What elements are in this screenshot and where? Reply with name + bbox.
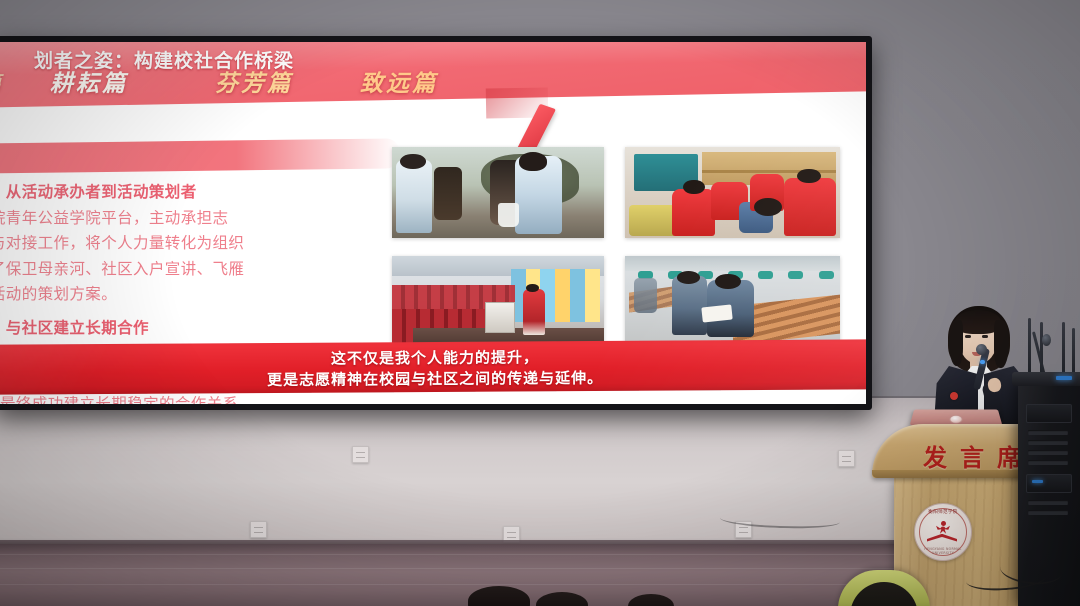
body-line: 划与对接工作，将个人力量转化为组织 bbox=[0, 231, 374, 257]
emblem-figure-icon bbox=[936, 521, 950, 534]
slide-photo-lecture-hall bbox=[392, 256, 604, 348]
lapel-badge-icon bbox=[950, 392, 958, 400]
audience-chair-seat bbox=[850, 582, 918, 606]
hair-side-right bbox=[994, 320, 1009, 368]
rack-vent-slot bbox=[1028, 510, 1068, 515]
banner-calligraphy-0: 篇 bbox=[0, 68, 4, 95]
hair-side-left bbox=[949, 320, 963, 366]
rack-vent-slot bbox=[1028, 460, 1068, 465]
body-line: 写了保卫母亲河、社区入户宣讲、飞雁 bbox=[0, 257, 374, 283]
banner-calligraphy-3: 致远篇 bbox=[360, 64, 438, 98]
rack-panel bbox=[1026, 474, 1072, 493]
laptop-logo-icon bbox=[949, 415, 963, 423]
body-heading-1: 变：从活动承办者到活动策划者 bbox=[0, 180, 374, 206]
slide-photo-outdoor-cleanup bbox=[392, 147, 604, 238]
body-line: 等活动的策划方案。 bbox=[0, 282, 374, 308]
wall-outlet bbox=[352, 446, 369, 463]
eye-left bbox=[965, 335, 971, 338]
slide-photo-classroom-volunteers bbox=[625, 147, 840, 238]
presentation-display[interactable]: 篇 耕耘篇 芬芳篇 致远篇 划者之姿：构建校社合作桥梁 变：从活动承办者到活动策… bbox=[0, 36, 872, 410]
microphone-led bbox=[980, 360, 985, 364]
auditorium-scene: 篇 耕耘篇 芬芳篇 致远篇 划者之姿：构建校社合作桥梁 变：从活动承办者到活动策… bbox=[0, 0, 1080, 606]
wall-outlet bbox=[838, 450, 855, 467]
rack-vent-slot bbox=[1028, 500, 1068, 505]
slide-content: 篇 耕耘篇 芬芳篇 致远篇 划者之姿：构建校社合作桥梁 变：从活动承办者到活动策… bbox=[0, 42, 866, 404]
emblem-top-text: 衡阳师范学院 bbox=[915, 509, 971, 515]
body-line: 学院青年公益学院平台，主动承担志 bbox=[0, 206, 374, 232]
rack-vent-slot bbox=[1028, 450, 1068, 455]
slide-title: 划者之姿：构建校社合作桥梁 bbox=[34, 46, 294, 73]
slide-title-bar bbox=[0, 138, 400, 173]
conclusion-line-2: 更是志愿精神在校园与社区之间的传递与延伸。 bbox=[0, 365, 866, 391]
school-emblem: 衡阳师范学院 HENGYANG NORMAL UNIVERSITY bbox=[914, 503, 972, 561]
rack-status-led bbox=[1032, 480, 1043, 483]
rack-power-led bbox=[1056, 376, 1072, 380]
slide-photo-park-bench bbox=[625, 256, 840, 348]
microphone-icon bbox=[976, 344, 987, 355]
rack-panel bbox=[1026, 404, 1072, 423]
emblem-bottom-text: HENGYANG NORMAL UNIVERSITY bbox=[915, 547, 971, 555]
slide-conclusion-bar: 这不仅是我个人能力的提升， 更是志愿精神在校园与社区之间的传递与延伸。 bbox=[0, 339, 866, 394]
body-heading-2: 接：与社区建立长期合作 bbox=[0, 316, 374, 342]
wall-outlet bbox=[250, 521, 267, 538]
rack-vent-slot bbox=[1028, 440, 1068, 445]
rack-vent-slot bbox=[1028, 430, 1068, 435]
eye-right bbox=[982, 335, 988, 338]
